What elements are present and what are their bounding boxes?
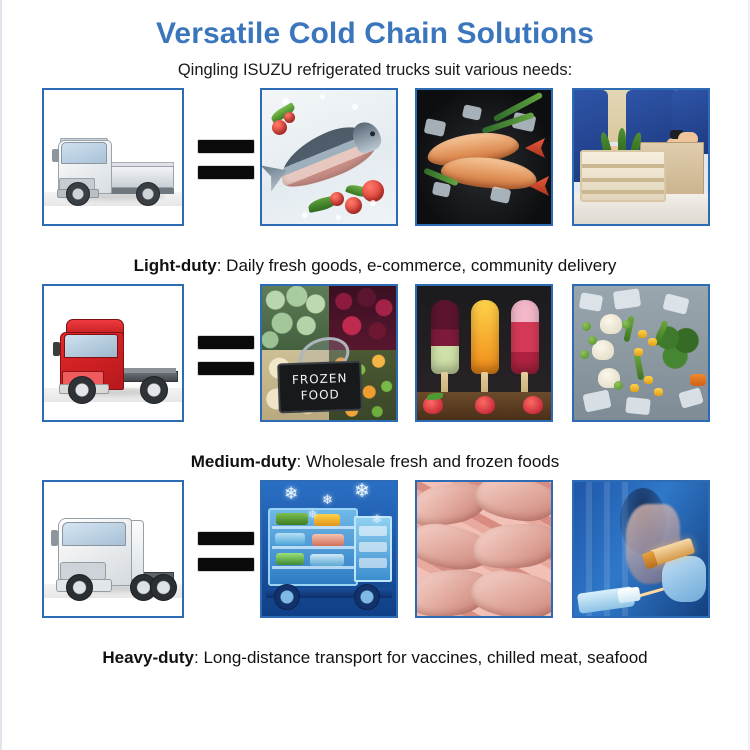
snowflake-icon: ❄	[308, 508, 317, 523]
page-title: Versatile Cold Chain Solutions	[2, 0, 748, 52]
caption-separator: :	[297, 452, 306, 471]
green-bean	[634, 354, 644, 381]
crate-slat	[582, 178, 664, 182]
chassis-rail	[118, 368, 176, 373]
prawn	[440, 153, 539, 193]
door-shelf	[359, 542, 387, 552]
salmon-tail	[261, 157, 292, 191]
equals-bar-top	[198, 532, 254, 545]
equals-bar-bottom	[198, 166, 254, 179]
rear-wheel	[140, 376, 168, 404]
corn-kernel	[630, 384, 639, 392]
cargo-shelf	[272, 526, 354, 529]
front-wheel	[66, 574, 93, 601]
caption-description: Wholesale fresh and frozen foods	[306, 452, 559, 471]
equals-bar-top	[198, 336, 254, 349]
stored-produce	[314, 514, 340, 526]
caption-separator: :	[217, 256, 226, 275]
salmon-head	[349, 118, 384, 156]
gloved-hand	[662, 556, 706, 602]
salmon-fish-photo	[260, 88, 398, 226]
sign-line-2: FOOD	[300, 386, 340, 403]
carrot-piece	[690, 374, 706, 386]
ice-cube	[432, 181, 451, 197]
tomato	[284, 112, 295, 123]
tomato	[330, 192, 344, 206]
needle	[638, 587, 664, 597]
green-pea	[622, 320, 631, 329]
caption-medium-duty: Medium-duty: Wholesale fresh and frozen …	[2, 442, 748, 474]
water-droplet	[320, 94, 325, 99]
infographic-page: Versatile Cold Chain Solutions Qingling …	[0, 0, 750, 750]
door-shelf	[359, 526, 387, 536]
chilled-meat-photo	[415, 480, 553, 618]
green-pea	[582, 322, 591, 331]
salmon-eye	[369, 131, 376, 138]
syringe-plunger	[617, 587, 641, 604]
stored-produce	[310, 554, 344, 566]
ice-chunk	[625, 397, 651, 415]
heavy-duty-truck-image	[42, 480, 184, 618]
windshield	[64, 334, 118, 358]
water-droplet	[336, 215, 341, 220]
strawberry	[475, 396, 495, 414]
ice-chunk	[662, 293, 689, 314]
cauliflower-floret	[600, 314, 622, 334]
mirror	[53, 342, 60, 356]
caption-term: Heavy-duty	[102, 648, 194, 667]
meat-slice	[472, 480, 553, 526]
water-droplet	[370, 200, 376, 206]
prawn-tail	[525, 138, 545, 158]
meat-slice	[471, 519, 553, 573]
frozen-food-board-photo: FROZEN FOOD	[260, 284, 398, 422]
shrimp-on-ice-photo	[415, 88, 553, 226]
corn-kernel	[644, 376, 653, 384]
cargo-shelf	[272, 546, 354, 549]
snowflake-icon: ❄	[372, 512, 382, 527]
mirror	[51, 530, 58, 546]
windshield	[61, 142, 107, 164]
equals-bar-bottom	[198, 362, 254, 375]
page-subtitle: Qingling ISUZU refrigerated trucks suit …	[2, 52, 748, 82]
stored-produce	[276, 513, 308, 525]
carrot-crate-delivery-photo	[572, 88, 710, 226]
windshield	[62, 522, 126, 546]
ice-chunk	[579, 292, 603, 312]
equals-bar-top	[198, 140, 254, 153]
medium-duty-truck-art	[44, 286, 182, 420]
row-medium-duty: FROZEN FOOD	[2, 284, 748, 442]
tomato	[345, 197, 362, 214]
wooden-crate	[580, 150, 666, 202]
stored-produce	[275, 533, 305, 545]
front-wheel	[66, 182, 90, 206]
corn-kernel	[634, 348, 643, 356]
heavy-duty-truck-art	[44, 482, 182, 616]
caption-description: Long-distance transport for vaccines, ch…	[203, 648, 647, 667]
snowflake-icon: ❄	[322, 492, 333, 507]
water-droplet	[302, 212, 308, 218]
green-pea	[614, 381, 623, 390]
light-duty-truck-image	[42, 88, 184, 226]
caption-heavy-duty: Heavy-duty: Long-distance transport for …	[2, 638, 748, 670]
caption-light-duty: Light-duty: Daily fresh goods, e-commerc…	[2, 246, 748, 278]
popsicle-berry	[431, 300, 459, 374]
equals-bar-bottom	[198, 558, 254, 571]
crate-slat	[582, 164, 664, 168]
caption-term: Light-duty	[134, 256, 217, 275]
meat-slice	[469, 567, 553, 618]
snowflake-icon: ❄	[354, 484, 370, 499]
stored-produce	[276, 553, 304, 565]
corn-kernel	[654, 388, 663, 396]
truck-wheel	[354, 584, 380, 610]
vaccine-vial-photo	[572, 480, 710, 618]
truck-wheel	[274, 584, 300, 610]
equals-sign	[198, 532, 254, 571]
green-pea	[580, 350, 589, 359]
ice-cube	[462, 104, 482, 120]
fruit-popsicles-photo	[415, 284, 553, 422]
tomato	[272, 120, 287, 135]
corn-kernel	[648, 338, 657, 346]
snowflake-icon: ❄	[284, 486, 298, 501]
frozen-vegetables-ice-photo	[572, 284, 710, 422]
water-droplet	[352, 104, 358, 110]
caption-term: Medium-duty	[191, 452, 297, 471]
cargo-shelf	[272, 566, 354, 569]
frozen-food-sign: FROZEN FOOD	[277, 361, 363, 414]
corn-kernel	[638, 330, 647, 338]
crate-slat	[582, 190, 664, 194]
stored-produce	[312, 534, 344, 546]
caption-description: Daily fresh goods, e-commerce, community…	[226, 256, 616, 275]
door-shelf	[359, 558, 387, 568]
sign-line-1: FROZEN	[292, 370, 348, 388]
equals-sign	[198, 140, 254, 179]
row-heavy-duty: ❄ ❄ ❄	[2, 480, 748, 638]
rear-wheel	[136, 182, 160, 206]
equals-sign	[198, 336, 254, 375]
ice-chunk	[582, 389, 611, 412]
mirror	[52, 149, 59, 162]
strawberry	[523, 396, 543, 414]
light-duty-truck-art	[44, 90, 182, 224]
ice-cube	[424, 118, 447, 137]
medium-duty-truck-image	[42, 284, 184, 422]
rear-wheel	[150, 574, 177, 601]
row-light-duty	[2, 88, 748, 246]
green-pea	[588, 336, 597, 345]
ice-cube	[490, 186, 511, 204]
popsicle-orange	[471, 300, 499, 374]
refrigerated-truck-illustration-photo: ❄ ❄ ❄	[260, 480, 398, 618]
tomato	[362, 180, 384, 202]
front-wheel	[68, 376, 96, 404]
popsicle-red	[511, 300, 539, 374]
ice-chunk	[613, 288, 641, 309]
ice-chunk	[678, 387, 704, 408]
